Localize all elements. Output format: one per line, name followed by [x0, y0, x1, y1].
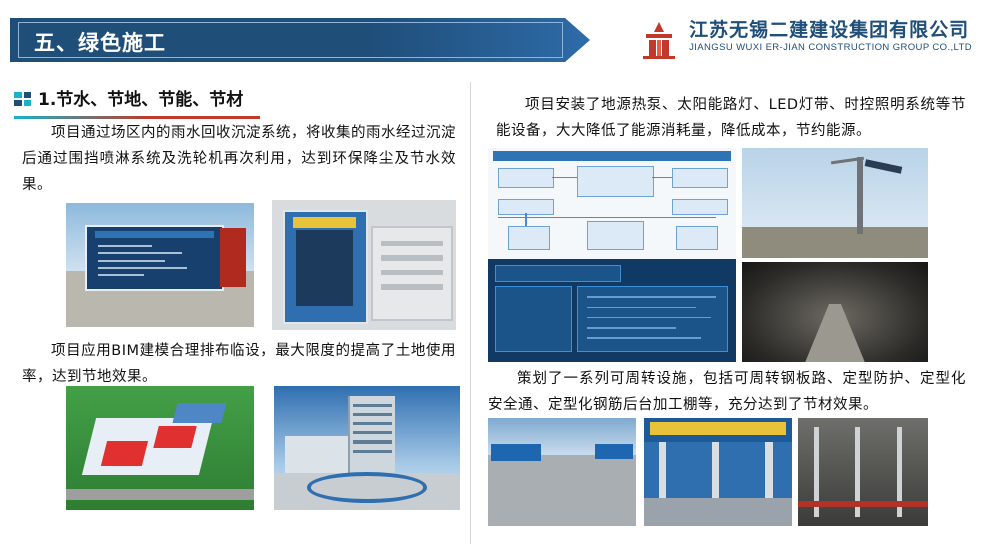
photo-sedimentation-system	[66, 203, 254, 327]
company-name-cn: 江苏无锡二建建设集团有限公司	[689, 18, 972, 42]
four-square-bullet-icon	[14, 92, 32, 106]
subsection-heading: 1.节水、节地、节能、节材	[14, 88, 269, 116]
left-paragraph-land-saving: 项目应用BIM建模合理排布临设，最大限度的提高了土地使用率，达到节地效果。	[22, 338, 456, 390]
page-title: 五、绿色施工	[34, 27, 166, 57]
section-title-banner: 五、绿色施工	[10, 18, 590, 62]
left-paragraph-water-saving: 项目通过场区内的雨水回收沉淀系统，将收集的雨水经过沉淀后通过围挡喷淋系统及洗轮机…	[22, 120, 456, 198]
photo-energy-system-diagram	[488, 148, 736, 362]
photo-bim-site-layout	[66, 386, 254, 510]
photo-safety-passage	[644, 418, 792, 526]
photo-underground-garage	[742, 262, 928, 362]
photo-steel-plate-road	[488, 418, 636, 526]
photo-rebar-processing-shed	[798, 418, 928, 526]
subsection-underline	[14, 116, 260, 119]
photo-project-rendering	[274, 386, 460, 510]
company-logo-icon	[637, 20, 681, 60]
company-name-en: JIANGSU WUXI ER-JIAN CONSTRUCTION GROUP …	[689, 42, 972, 54]
page-header: 五、绿色施工 江苏无锡二建建设集团有限公司 JIANGSU WUXI ER-JI…	[0, 18, 986, 68]
right-paragraph-energy-saving: 项目安装了地源热泵、太阳能路灯、LED灯带、时控照明系统等节能设备，大大降低了能…	[496, 92, 966, 144]
column-divider	[470, 82, 471, 544]
photo-solar-street-light	[742, 148, 928, 258]
right-paragraph-material-saving: 策划了一系列可周转设施，包括可周转钢板路、定型防护、定型化安全通、定型化钢筋后台…	[488, 366, 966, 418]
subsection-title: 1.节水、节地、节能、节材	[38, 85, 243, 110]
photo-wash-station	[272, 200, 456, 330]
company-identity: 江苏无锡二建建设集团有限公司 JIANGSU WUXI ER-JIAN CONS…	[689, 18, 972, 54]
